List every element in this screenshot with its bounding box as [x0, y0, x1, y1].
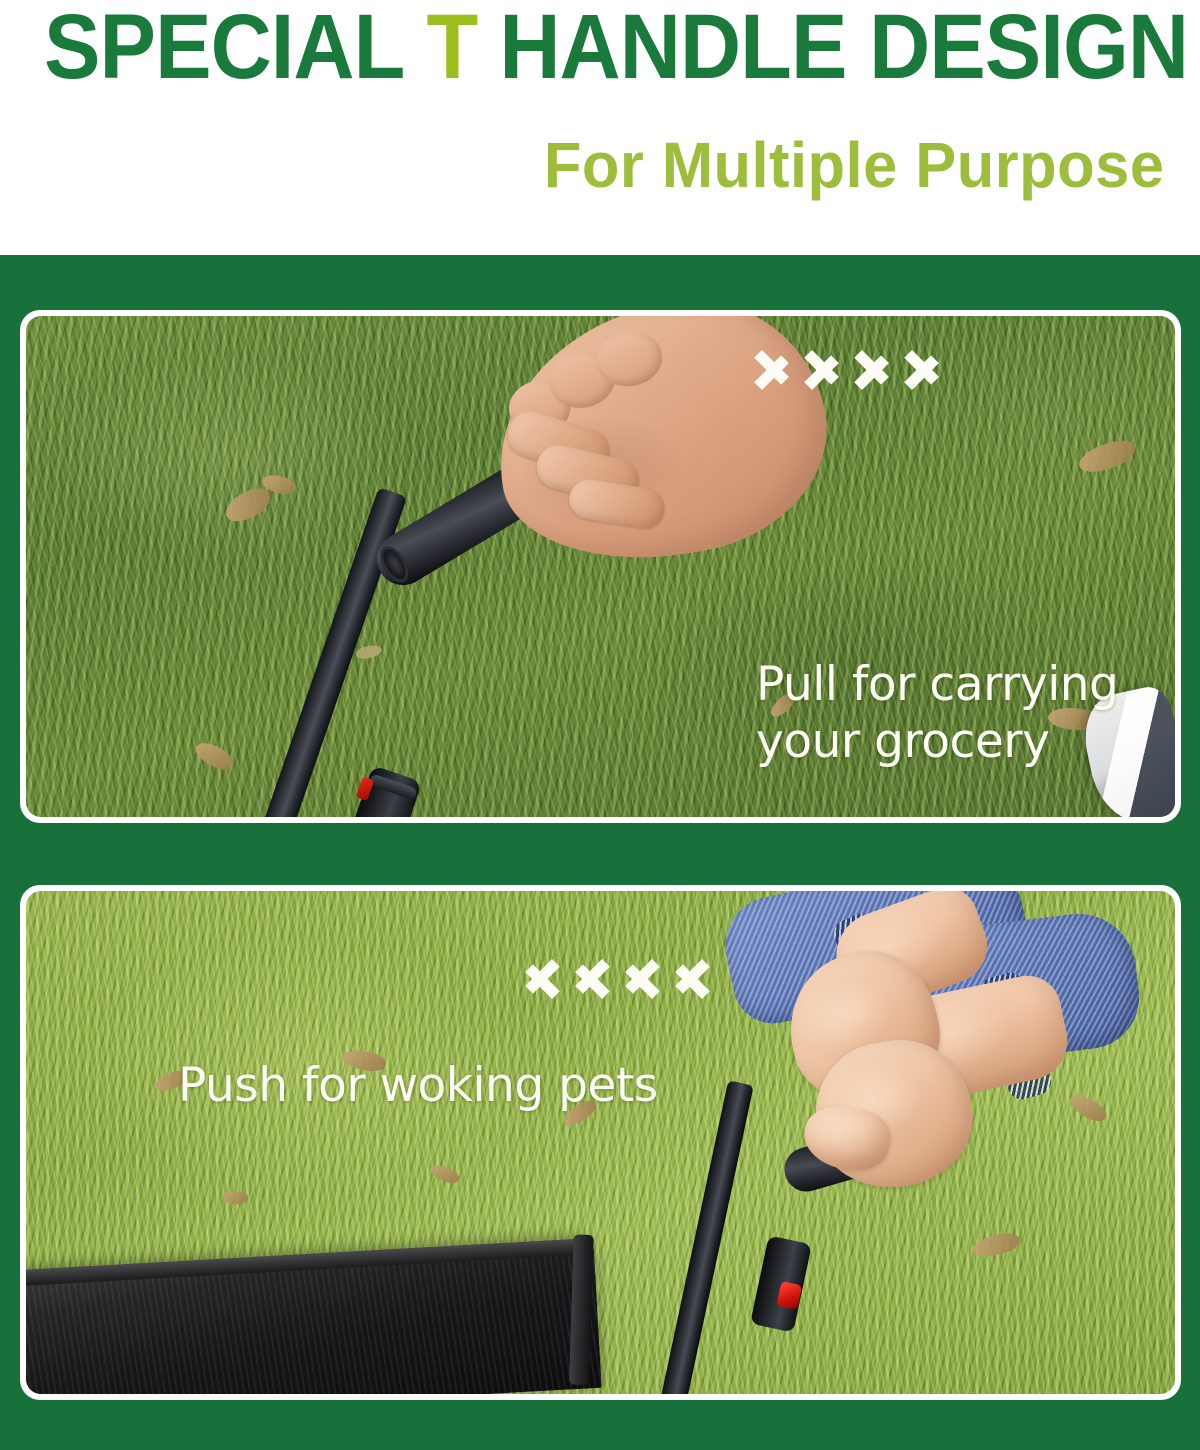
chevron-right-icon	[912, 344, 946, 396]
photo-pull: Pull for carrying your grocery	[26, 316, 1175, 817]
caption-pull-line1: Pull for carrying	[756, 656, 1118, 713]
caption-push-line1: Push for woking pets	[178, 1057, 658, 1114]
chevron-right-icon	[762, 344, 796, 396]
headline-part2: HANDLE DESIGN	[499, 0, 1188, 98]
page-headline: SPECIALTHANDLE DESIGN	[44, 0, 1074, 96]
finger	[566, 477, 667, 532]
photo-push: Push for woking pets	[26, 891, 1175, 1394]
photo-card-push: Push for woking pets	[20, 885, 1181, 1400]
page-subheadline: For Multiple Purpose	[543, 130, 1164, 200]
chevron-left-icon	[518, 953, 552, 1005]
red-release-button	[776, 1281, 802, 1310]
collar-ring	[368, 773, 417, 800]
photo-card-pull: Pull for carrying your grocery	[20, 310, 1181, 823]
cart-frame-bar	[569, 1234, 594, 1385]
chevron-right-icon	[862, 344, 896, 396]
chevron-left-icon	[568, 953, 602, 1005]
headline-accent-t: T	[426, 0, 477, 98]
chevron-group-left	[518, 953, 702, 1005]
green-panel: Pull for carrying your grocery	[0, 255, 1200, 1450]
chevron-right-icon	[812, 344, 846, 396]
header-banner: SPECIALTHANDLE DESIGN For Multiple Purpo…	[0, 0, 1200, 255]
chevron-left-icon	[668, 953, 702, 1005]
chevron-group-right	[762, 344, 946, 396]
chevron-left-icon	[618, 953, 652, 1005]
caption-pull-line2: your grocery	[756, 713, 1049, 770]
headline-part1: SPECIAL	[44, 0, 404, 98]
